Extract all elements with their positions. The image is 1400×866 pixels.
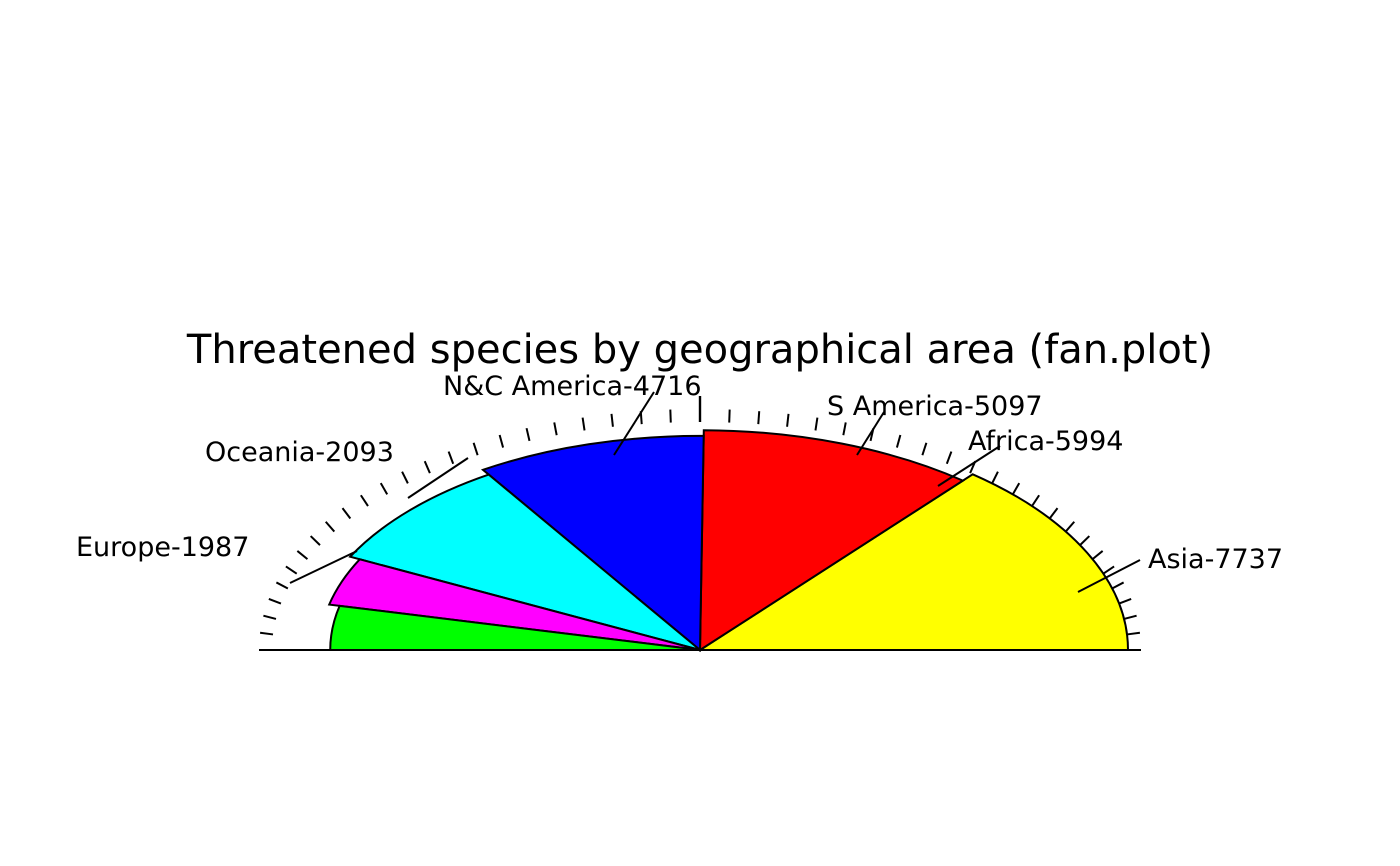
axis-tick <box>286 566 297 573</box>
axis-tick <box>326 522 335 532</box>
axis-tick <box>815 418 817 431</box>
axis-tick <box>947 452 952 464</box>
axis-tick <box>1119 599 1131 604</box>
axis-tick <box>381 483 387 494</box>
axis-tick <box>276 582 288 588</box>
axis-tick <box>897 435 900 448</box>
axis-tick <box>1112 582 1124 588</box>
slice-label-africa: Africa-5994 <box>968 426 1123 457</box>
axis-tick <box>1124 616 1137 619</box>
axis-tick <box>1103 566 1114 573</box>
slice-label-n-c-america: N&C America-4716 <box>443 371 702 402</box>
axis-tick <box>843 422 845 435</box>
slice-label-oceania: Oceania-2093 <box>205 437 394 468</box>
wedge-group <box>329 430 1128 650</box>
axis-tick <box>343 508 351 518</box>
axis-tick <box>474 443 478 455</box>
slice-label-europe: Europe-1987 <box>76 532 249 563</box>
axis-tick <box>1066 522 1075 532</box>
axis-tick <box>1013 483 1019 494</box>
axis-tick <box>260 633 273 635</box>
axis-tick <box>263 616 276 619</box>
axis-tick <box>992 472 998 484</box>
axis-tick <box>1032 495 1039 506</box>
axis-tick <box>311 536 320 545</box>
axis-tick <box>1050 508 1058 518</box>
axis-tick <box>1093 551 1103 559</box>
axis-tick <box>361 495 368 506</box>
axis-tick <box>787 414 788 427</box>
axis-tick <box>922 443 926 455</box>
chart-title: Threatened species by geographical area … <box>186 327 1213 373</box>
axis-tick <box>554 422 556 435</box>
axis-tick <box>611 414 612 427</box>
fan-plot-chart: Threatened species by geographical area … <box>0 0 1400 866</box>
axis-tick <box>1127 633 1140 635</box>
axis-tick <box>402 472 408 484</box>
axis-tick <box>527 428 530 441</box>
axis-tick <box>758 411 759 424</box>
axis-tick <box>583 418 585 431</box>
axis-tick <box>269 599 281 604</box>
slice-label-s-america: S America-5097 <box>827 391 1043 422</box>
slice-label-asia: Asia-7737 <box>1148 544 1283 575</box>
axis-tick <box>425 461 430 473</box>
axis-tick <box>500 435 503 448</box>
fan-plot-container: Threatened species by geographical area … <box>0 0 1400 866</box>
axis-tick <box>1080 536 1089 545</box>
axis-tick <box>297 551 307 559</box>
axis-tick <box>449 452 454 464</box>
